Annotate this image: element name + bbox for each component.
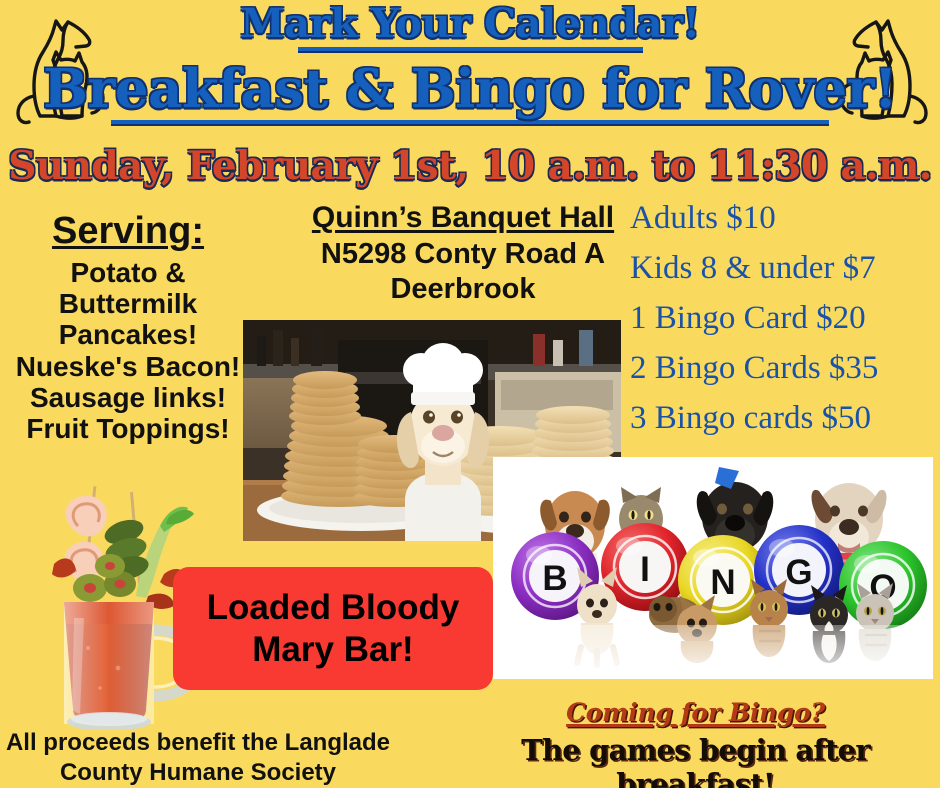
- callout-line-1: Loaded Bloody: [207, 587, 460, 628]
- bingo-note: Coming for Bingo? The games begin after …: [455, 698, 936, 788]
- serving-item: Sausage links!: [8, 382, 248, 413]
- venue-address: N5298 Conty Road A: [283, 237, 643, 272]
- venue-section: Quinn’s Banquet Hall N5298 Conty Road A …: [283, 200, 643, 307]
- price-row: 3 Bingo cards $50: [630, 402, 930, 435]
- bingo-question: Coming for Bingo?: [455, 698, 936, 727]
- price-row: 2 Bingo Cards $35: [630, 352, 930, 385]
- bingo-letter: B: [542, 559, 567, 598]
- venue-city: Deerbrook: [283, 272, 643, 307]
- bingo-answer: The games begin after breakfast!: [455, 733, 936, 788]
- price-row: Adults $10: [630, 202, 930, 235]
- price-row: Kids 8 & under $7: [630, 252, 930, 285]
- bingo-letter: G: [785, 553, 812, 592]
- serving-item: Pancakes!: [8, 319, 248, 350]
- callout-line-2: Mary Bar!: [252, 629, 413, 670]
- kicker-text: Mark Your Calendar!: [0, 4, 940, 45]
- serving-item: Potato &: [8, 257, 248, 288]
- serving-section: Serving: Potato & Buttermilk Pancakes! N…: [8, 210, 248, 445]
- serving-item: Nueske's Bacon!: [8, 351, 248, 382]
- title-underline: [111, 120, 829, 126]
- price-list: Adults $10 Kids 8 & under $7 1 Bingo Car…: [630, 202, 930, 452]
- serving-heading: Serving:: [8, 210, 248, 253]
- proceeds-line-2: County Humane Society: [2, 758, 394, 788]
- kicker-underline: [298, 47, 643, 53]
- serving-item: Fruit Toppings!: [8, 413, 248, 444]
- event-date-time: Sunday, February 1st, 10 a.m. to 11:30 a…: [0, 143, 940, 189]
- bingo-letter: I: [640, 550, 650, 589]
- proceeds-line-1: All proceeds benefit the Langlade: [2, 728, 394, 758]
- serving-item: Buttermilk: [8, 288, 248, 319]
- headline-block: Mark Your Calendar! Breakfast & Bingo fo…: [0, 4, 940, 189]
- venue-name: Quinn’s Banquet Hall: [283, 200, 643, 237]
- page-title: Breakfast & Bingo for Rover!: [0, 62, 940, 116]
- bloody-mary-callout: Loaded Bloody Mary Bar!: [173, 567, 493, 690]
- bingo-photo: B I N: [493, 457, 933, 679]
- flyer-canvas: Mark Your Calendar! Breakfast & Bingo fo…: [0, 0, 940, 788]
- price-row: 1 Bingo Card $20: [630, 302, 930, 335]
- proceeds-note: All proceeds benefit the Langlade County…: [2, 728, 394, 788]
